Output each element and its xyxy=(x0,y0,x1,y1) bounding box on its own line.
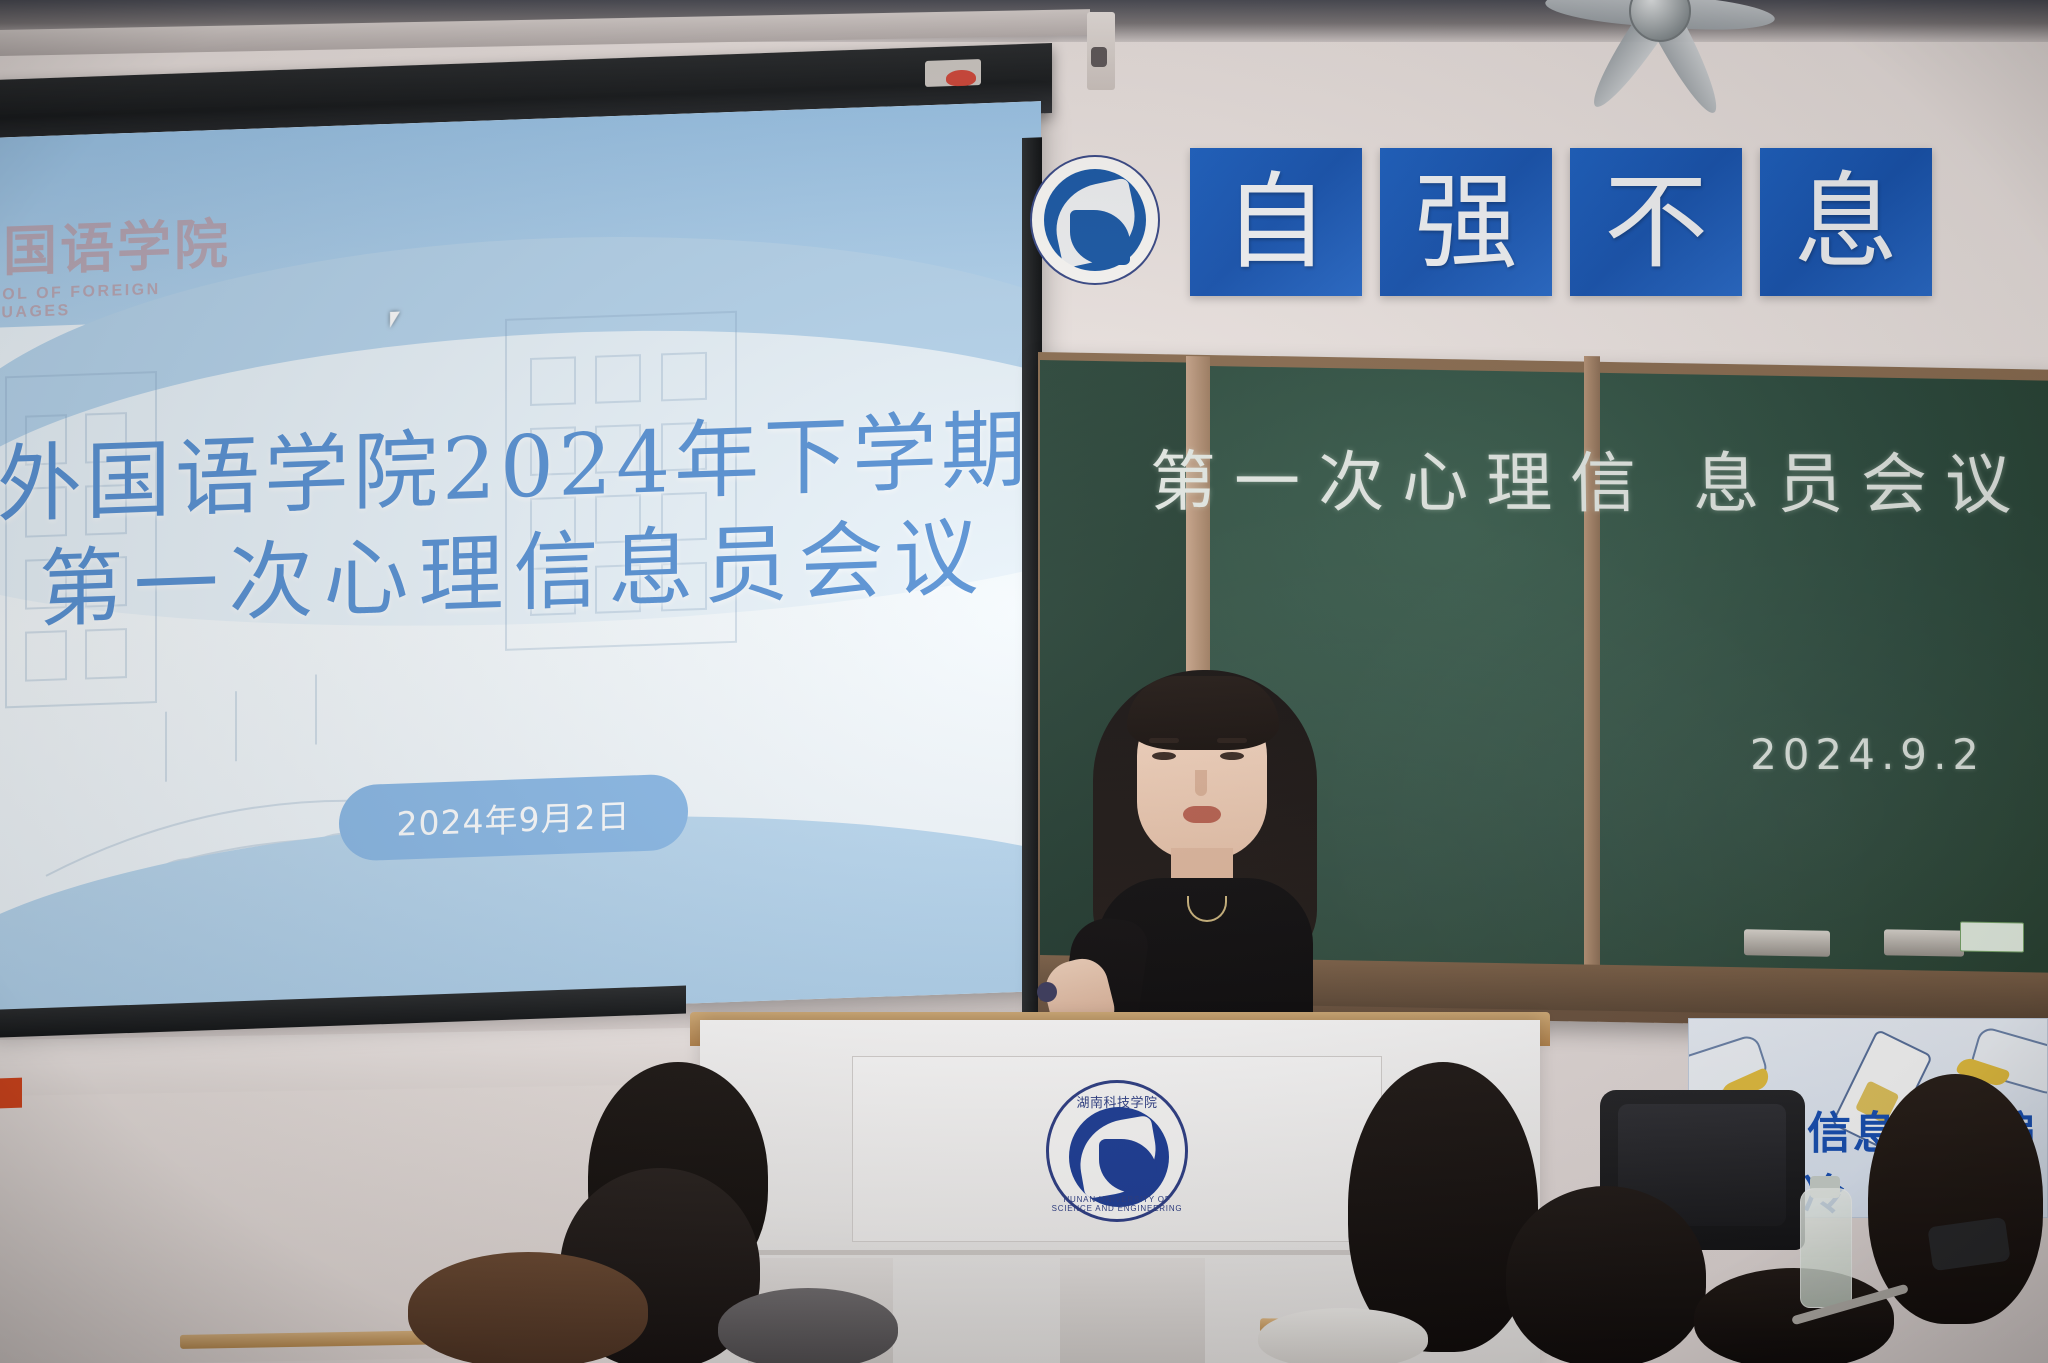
presenter-eyebrow xyxy=(1149,738,1179,743)
sensor-lens-icon xyxy=(1091,47,1107,67)
red-wall-tag xyxy=(0,1078,22,1109)
wall-motto-plaques: 自 强 不 息 xyxy=(1190,148,1960,298)
presenter-nose xyxy=(1195,770,1207,796)
slide-date-badge: 2024年9月2日 xyxy=(339,773,689,861)
projection-screen: 外国语学院 SCHOOL OF FOREIGN LANGUAGES 外国语学院2… xyxy=(0,101,1041,1028)
audience-head xyxy=(718,1288,898,1363)
presentation-slide: 外国语学院 SCHOOL OF FOREIGN LANGUAGES 外国语学院2… xyxy=(0,101,1041,1028)
screen-brand-sticker xyxy=(946,69,976,86)
mouse-pointer-icon xyxy=(390,311,407,328)
motto-plaque: 强 xyxy=(1380,148,1552,296)
school-logo-cn: 外国语学院 xyxy=(0,216,276,282)
audience-head xyxy=(1506,1186,1706,1363)
blackboard-chalk-date: 2024.9.2 xyxy=(1750,730,1986,779)
slide-title: 外国语学院2024年下学期 第一次心理信息员会议 xyxy=(0,401,1041,650)
podium-emblem-en: HUNAN UNIVERSITY OF SCIENCE AND ENGINEER… xyxy=(1049,1195,1185,1213)
blackboard-eraser[interactable] xyxy=(1884,929,1964,956)
school-logo: 外国语学院 SCHOOL OF FOREIGN LANGUAGES xyxy=(0,216,276,324)
water-bottle[interactable] xyxy=(1800,1188,1852,1308)
presenter-mouth xyxy=(1183,806,1221,823)
presenter-eye xyxy=(1152,752,1176,760)
motto-char: 息 xyxy=(1794,170,1898,274)
presenter-eye xyxy=(1220,752,1244,760)
motto-char: 强 xyxy=(1414,170,1518,274)
presenter-eyebrow xyxy=(1217,738,1247,743)
podium-emblem-icon: 湖南科技学院 HUNAN UNIVERSITY OF SCIENCE AND E… xyxy=(1046,1080,1188,1222)
podium-leg xyxy=(1060,1258,1205,1363)
blackboard-surface xyxy=(1210,366,2048,1001)
tray-label-sticker xyxy=(1960,921,2024,952)
motto-char: 自 xyxy=(1224,170,1328,274)
ceiling-fan xyxy=(1540,0,1780,66)
motto-char: 不 xyxy=(1604,170,1708,274)
university-emblem-icon xyxy=(1030,155,1160,285)
audience-head xyxy=(408,1252,648,1363)
motto-plaque: 息 xyxy=(1760,148,1932,296)
marker-pen-icon xyxy=(1037,982,1057,1002)
motto-plaque: 自 xyxy=(1190,148,1362,296)
blackboard-eraser[interactable] xyxy=(1744,929,1830,957)
audience-head xyxy=(1258,1308,1428,1363)
photo-scene: 外国语学院 SCHOOL OF FOREIGN LANGUAGES 外国语学院2… xyxy=(0,0,2048,1363)
blackboard-center-divider xyxy=(1584,356,1600,992)
motto-plaque: 不 xyxy=(1570,148,1742,296)
